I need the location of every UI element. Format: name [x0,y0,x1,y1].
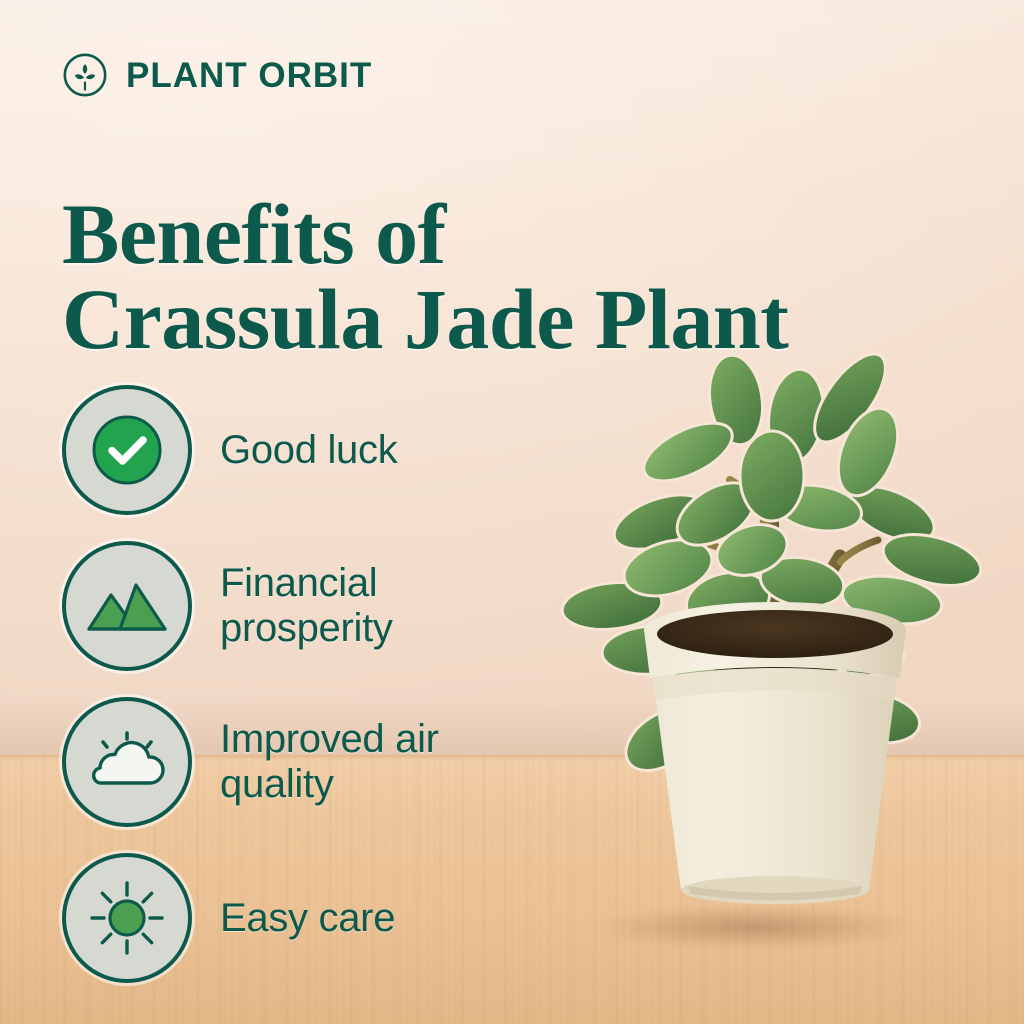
mountains-icon [84,571,170,641]
list-item: Financial prosperity [62,528,582,684]
list-item: Good luck [62,372,582,528]
cloud-sun-icon [83,727,171,797]
check-circle-icon [88,411,166,489]
plant-sprout-in-circle-icon [62,52,108,98]
plant-pot [644,602,906,904]
page-title-line-1: Benefits of [62,192,882,277]
jade-plant-illustration [540,300,1010,960]
jade-plant-photo [540,300,1010,960]
brand-name: PLANT ORBIT [126,58,372,93]
benefit-badge-improved-air-quality [62,697,192,827]
benefit-label: Easy care [220,896,395,941]
list-item: Easy care [62,840,582,996]
benefit-label: Good luck [220,428,397,473]
benefit-badge-good-luck [62,385,192,515]
poster-canvas: PLANT ORBIT Benefits of Crassula Jade Pl… [0,0,1024,1024]
brand-lockup: PLANT ORBIT [62,52,372,98]
list-item: Improved air quality [62,684,582,840]
benefit-label: Improved air quality [220,717,550,807]
benefits-list: Good luck Financial prosperity [62,372,582,996]
benefit-label: Financial prosperity [220,561,550,651]
benefit-badge-financial-prosperity [62,541,192,671]
sun-icon [85,876,169,960]
benefit-badge-easy-care [62,853,192,983]
